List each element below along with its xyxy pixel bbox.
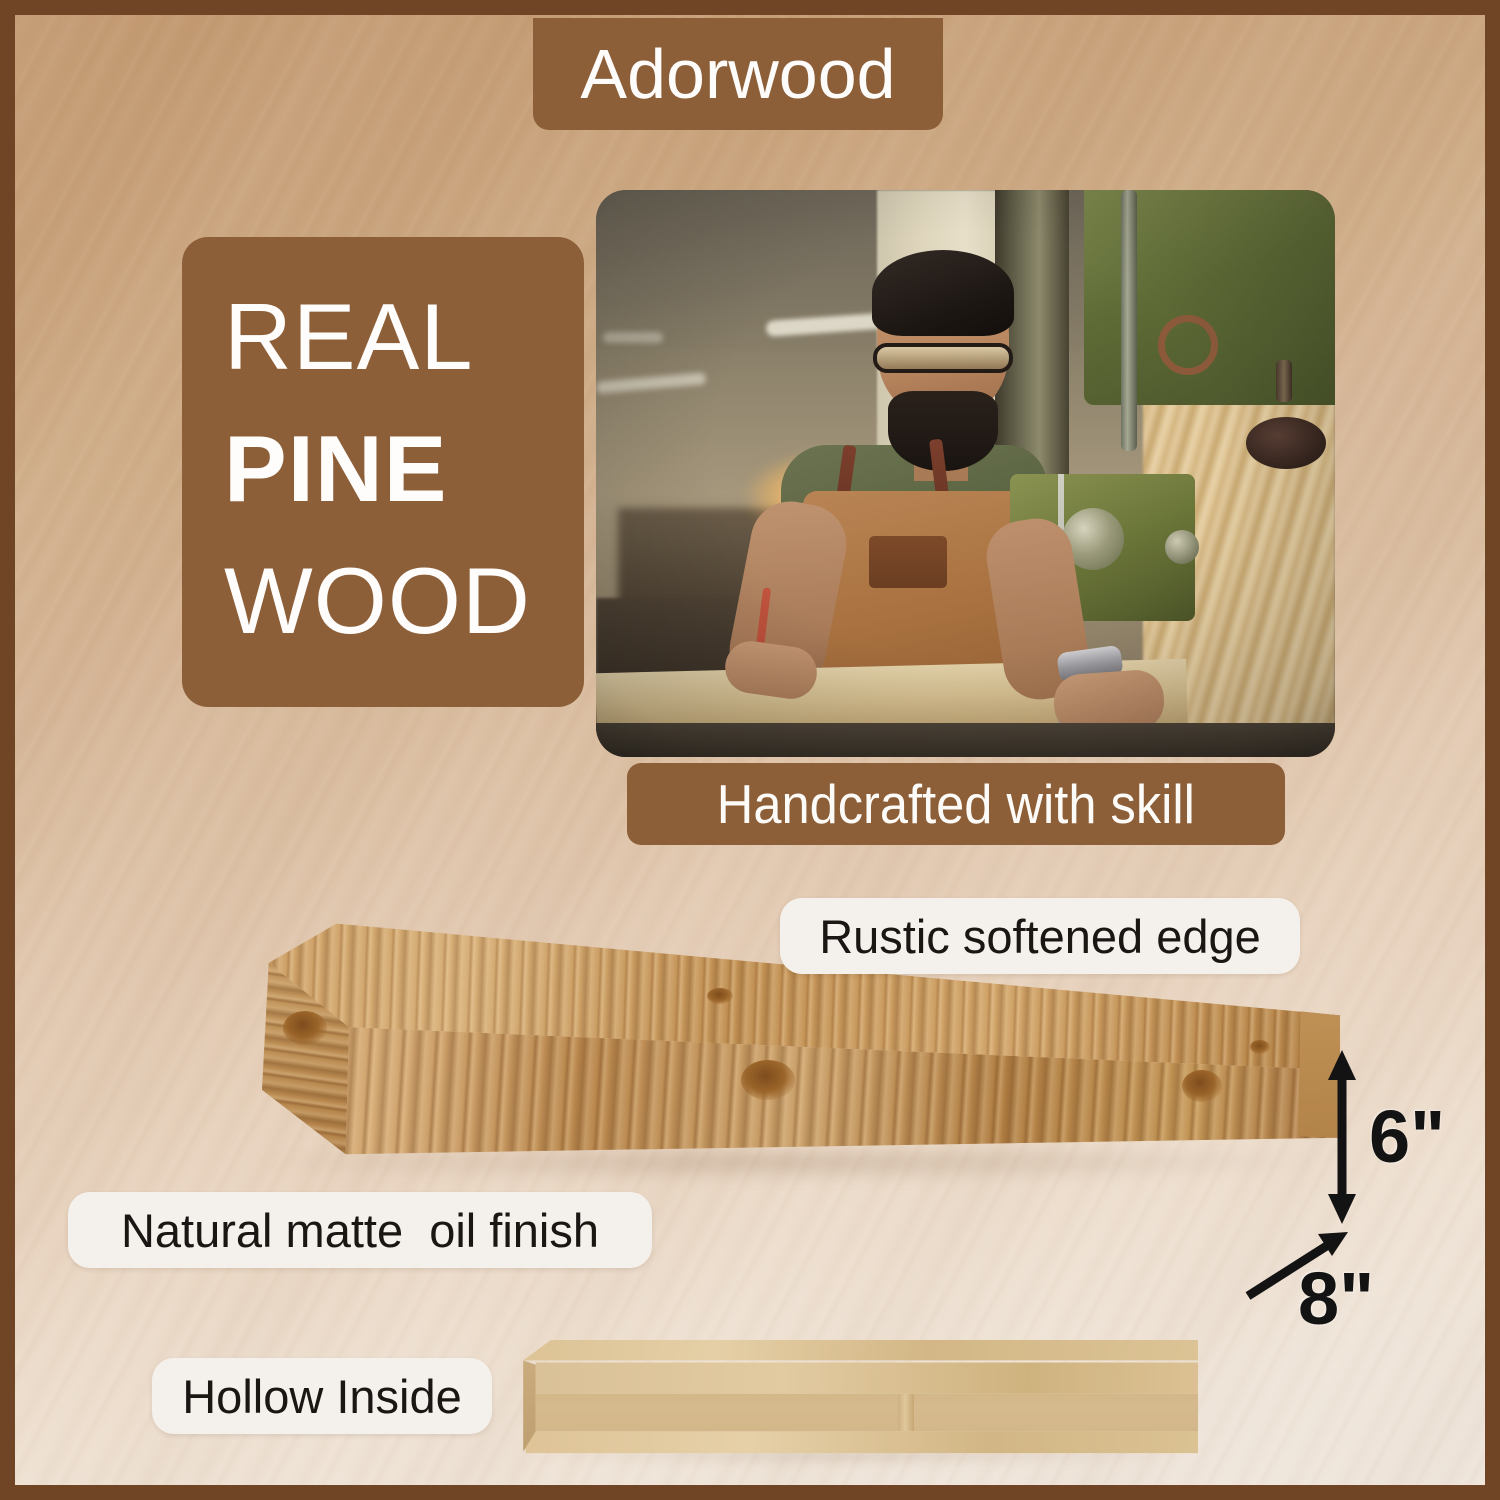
height-dimension-arrow	[1328, 1050, 1356, 1224]
photo-vignette	[596, 190, 1335, 757]
craftsman-bandsaw-photo	[596, 190, 1335, 757]
callout-natural-matte-oil-finish: Natural matte oil finish	[68, 1192, 652, 1268]
beam-knot-4	[1182, 1070, 1222, 1102]
callout-label: Natural matte oil finish	[121, 1207, 599, 1254]
headline-box: REAL PINE WOOD	[182, 237, 584, 707]
brand-name: Adorwood	[580, 39, 895, 109]
beam-knot-2	[741, 1060, 795, 1100]
headline-line-1: REAL	[182, 271, 584, 403]
callout-hollow-inside: Hollow Inside	[152, 1358, 492, 1434]
product-infographic: Adorwood REAL PINE WOOD	[0, 0, 1500, 1500]
beam-knot-3	[707, 988, 733, 1004]
beam-shadow	[255, 1149, 1317, 1182]
hollow-beam-product	[508, 1327, 1198, 1472]
callout-rustic-softened-edge: Rustic softened edge	[780, 898, 1300, 974]
headline-line-3: WOOD	[182, 535, 584, 667]
hollow-beam-support-brace	[898, 1394, 914, 1432]
dimension-height-label: 6"	[1369, 1100, 1445, 1174]
headline-line-2: PINE	[182, 403, 584, 535]
photo-caption-text: Handcrafted with skill	[717, 772, 1195, 836]
photo-caption: Handcrafted with skill	[627, 763, 1285, 845]
callout-label: Hollow Inside	[182, 1373, 462, 1420]
callout-label: Rustic softened edge	[819, 913, 1261, 960]
beam-knot-1	[283, 1011, 327, 1045]
brand-banner: Adorwood	[533, 18, 943, 130]
dimension-depth-label: 8"	[1298, 1262, 1374, 1336]
